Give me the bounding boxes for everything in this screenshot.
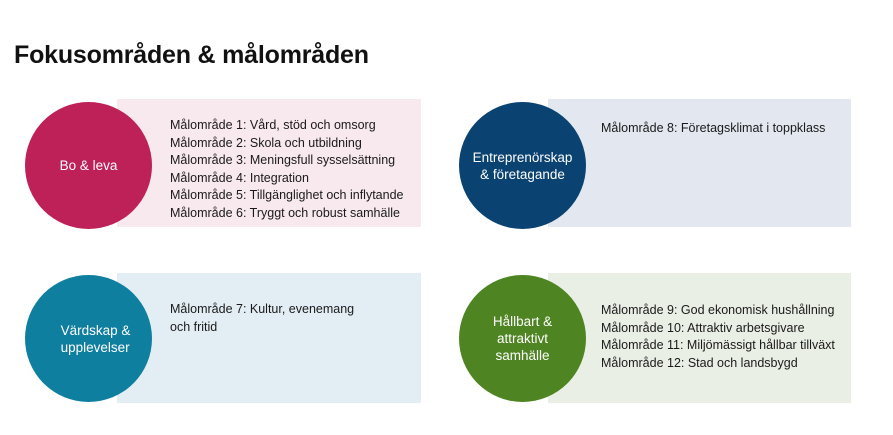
goal-list-vardskap: Målområde 7: Kultur, evenemang och friti… xyxy=(170,301,370,336)
focus-area-circle-entreprenorskap: Entreprenörskap & företagande xyxy=(459,102,586,229)
focus-area-circle-label: Värdskap & upplevelser xyxy=(39,322,139,356)
page-title: Fokusområden & målområden xyxy=(14,41,369,70)
focus-area-circle-hallbart: Hållbart & attraktivt samhälle xyxy=(459,275,586,402)
focus-area-panel xyxy=(548,99,851,227)
goal-item: Målområde 2: Skola och utbildning xyxy=(170,135,403,153)
goal-list-entreprenorskap: Målområde 8: Företagsklimat i toppklass xyxy=(601,120,825,138)
goal-item: Målområde 11: Miljömässigt hållbar tillv… xyxy=(601,337,835,355)
goal-item: Målområde 4: Integration xyxy=(170,170,403,188)
goal-item: Målområde 1: Vård, stöd och omsorg xyxy=(170,117,403,135)
focus-area-bo-leva: Bo & leva Målområde 1: Vård, stöd och om… xyxy=(25,99,425,239)
goal-item: Målområde 6: Tryggt och robust samhälle xyxy=(170,205,403,223)
focus-area-circle-label: Bo & leva xyxy=(52,157,126,174)
goal-list-hallbart: Målområde 9: God ekonomisk hushållning M… xyxy=(601,302,835,372)
goal-item: Målområde 9: God ekonomisk hushållning xyxy=(601,302,835,320)
focus-area-vardskap-upplevelser: Värdskap & upplevelser Målområde 7: Kult… xyxy=(25,272,425,412)
goal-item: Målområde 5: Tillgänglighet och inflytan… xyxy=(170,187,403,205)
focus-area-circle-label: Hållbart & attraktivt samhälle xyxy=(485,313,560,364)
focus-area-circle-vardskap: Värdskap & upplevelser xyxy=(25,275,152,402)
focus-area-panel xyxy=(117,273,421,403)
focus-area-hallbart-attraktivt-samhalle: Hållbart & attraktivt samhälle Målområde… xyxy=(459,272,859,412)
focus-area-circle-bo-leva: Bo & leva xyxy=(25,102,152,229)
goal-item: Målområde 8: Företagsklimat i toppklass xyxy=(601,120,825,138)
goal-list-bo-leva: Målområde 1: Vård, stöd och omsorg Målom… xyxy=(170,117,403,222)
goal-item: Målområde 12: Stad och landsbygd xyxy=(601,355,835,373)
goal-item: Målområde 10: Attraktiv arbetsgivare xyxy=(601,320,835,338)
goal-item: Målområde 3: Meningsfull sysselsättning xyxy=(170,152,403,170)
focus-areas-grid: Bo & leva Målområde 1: Vård, stöd och om… xyxy=(0,90,893,420)
focus-area-entreprenorskap-foretagande: Entreprenörskap & företagande Målområde … xyxy=(459,99,859,239)
goal-item: Målområde 7: Kultur, evenemang och friti… xyxy=(170,301,370,336)
focus-area-circle-label: Entreprenörskap & företagande xyxy=(465,149,581,183)
